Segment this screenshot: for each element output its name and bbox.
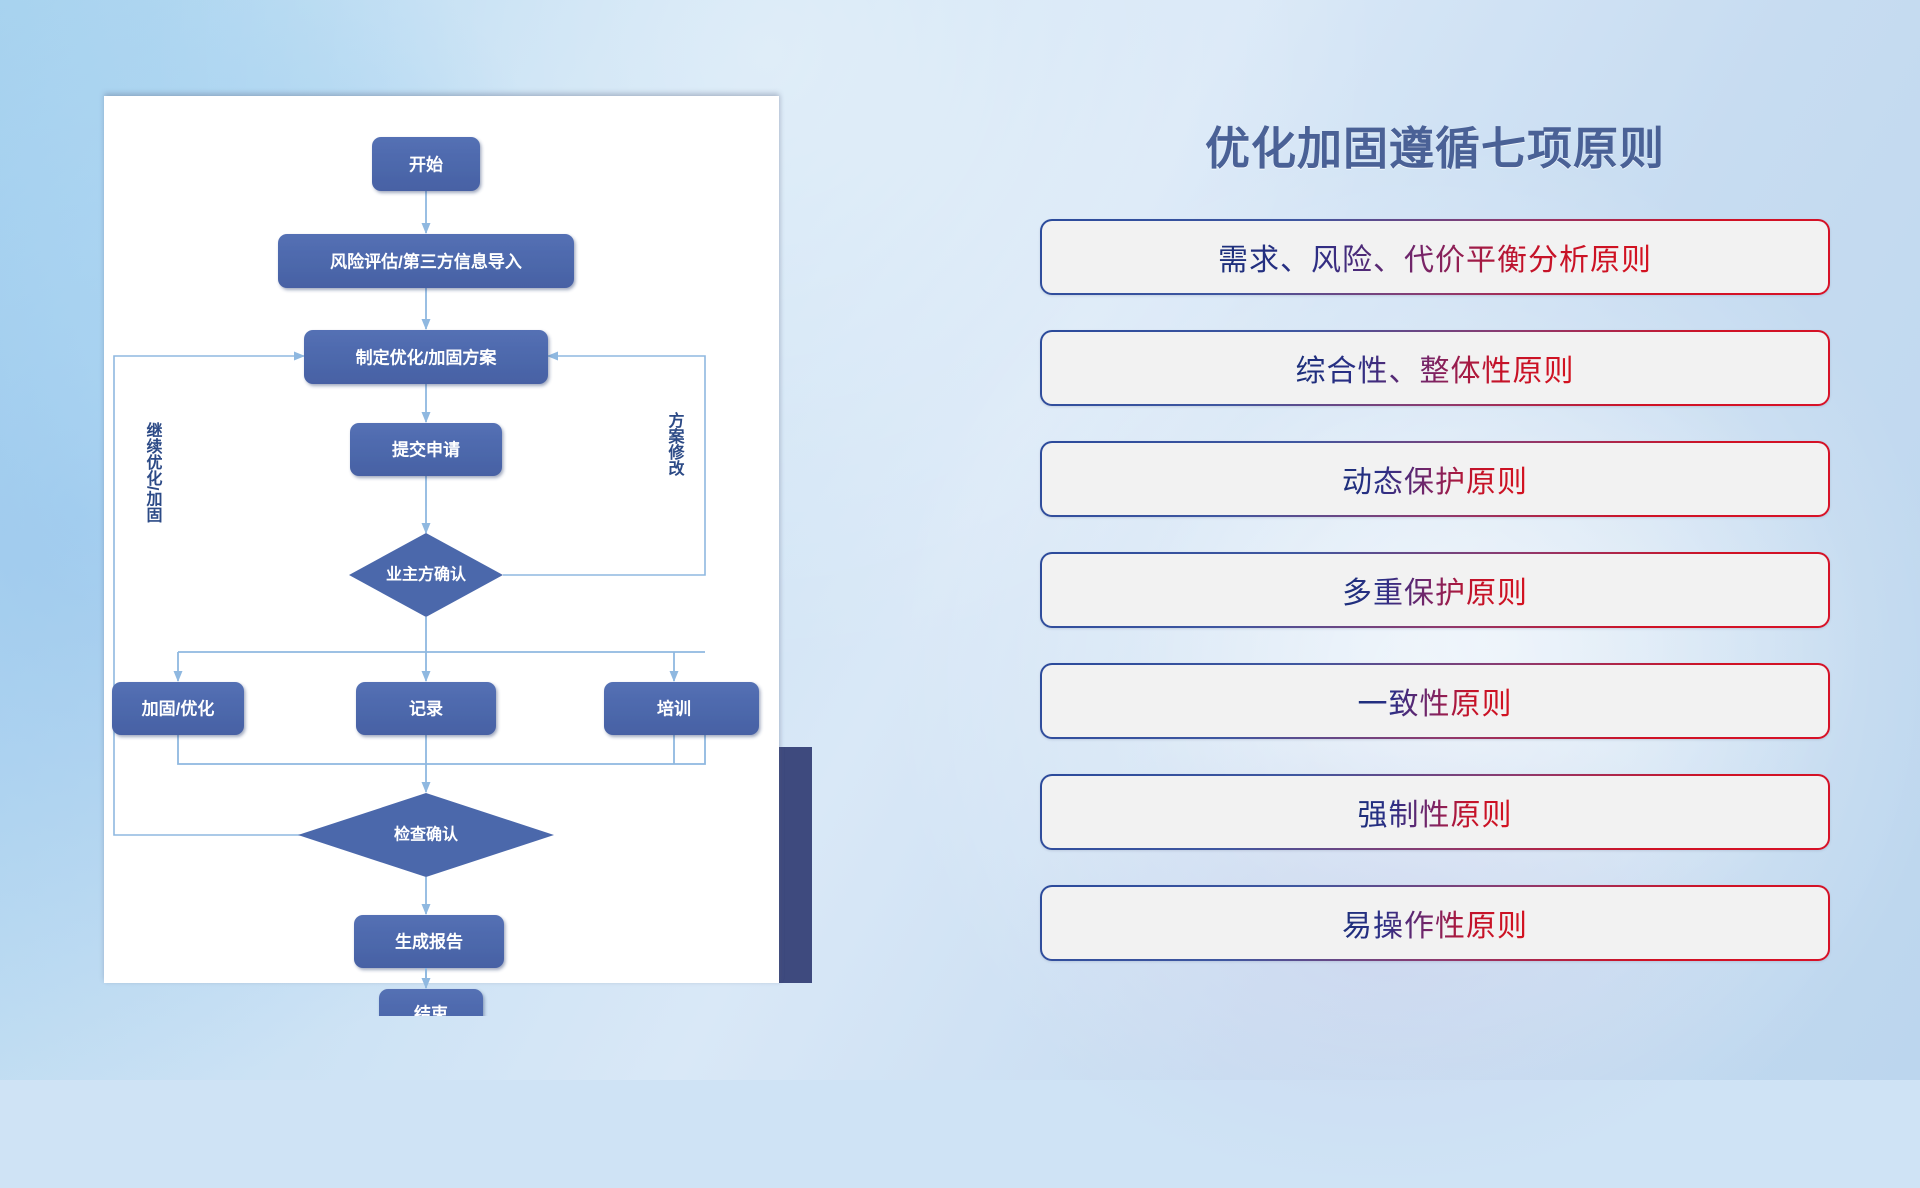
- flow-node-start-label: 开始: [409, 155, 443, 175]
- flow-edge-label-right: 方案修改: [666, 411, 686, 477]
- flow-node-owner-confirm-label: 业主方确认: [386, 565, 467, 584]
- flow-node-report[interactable]: 生成报告: [354, 915, 504, 968]
- flow-node-training[interactable]: 培训: [604, 682, 759, 735]
- principle-label: 易操作性原则: [1342, 901, 1528, 945]
- principle-label: 动态保护原则: [1342, 457, 1528, 501]
- flow-node-submit-label: 提交申请: [392, 440, 460, 460]
- flow-node-submit[interactable]: 提交申请: [350, 423, 502, 476]
- principle-card[interactable]: 综合性、整体性原则: [1040, 330, 1830, 406]
- flow-node-risk-label: 风险评估/第三方信息导入: [330, 252, 522, 272]
- principle-card[interactable]: 多重保护原则: [1040, 552, 1830, 628]
- flow-node-record-label: 记录: [409, 700, 443, 719]
- principle-card[interactable]: 一致性原则: [1040, 663, 1830, 739]
- flowchart-panel: 开始 风险评估/第三方信息导入 制定优化/加固方案 提交申请 业主方确认 加固/…: [104, 96, 779, 983]
- flow-node-plan-label: 制定优化/加固方案: [356, 348, 498, 368]
- principle-card[interactable]: 动态保护原则: [1040, 441, 1830, 517]
- principles-list: 需求、风险、代价平衡分析原则 综合性、整体性原则 动态保护原则 多重保护原则 一…: [1020, 219, 1850, 961]
- flow-node-risk[interactable]: 风险评估/第三方信息导入: [278, 234, 574, 288]
- flow-node-reinforce[interactable]: 加固/优化: [112, 682, 244, 735]
- page-title: 优化加固遵循七项原则: [1020, 112, 1850, 177]
- principles-panel: 优化加固遵循七项原则 需求、风险、代价平衡分析原则 综合性、整体性原则 动态保护…: [1020, 90, 1850, 1010]
- principle-label: 需求、风险、代价平衡分析原则: [1218, 235, 1652, 279]
- flow-edge-label-left: 继续优化/加固: [144, 421, 164, 523]
- principle-label: 综合性、整体性原则: [1296, 346, 1575, 390]
- flowchart-diagram: 开始 风险评估/第三方信息导入 制定优化/加固方案 提交申请 业主方确认 加固/…: [104, 96, 779, 983]
- principle-label: 多重保护原则: [1342, 568, 1528, 612]
- flow-node-report-label: 生成报告: [395, 932, 463, 952]
- flow-node-reinforce-label: 加固/优化: [141, 699, 215, 719]
- principle-card[interactable]: 强制性原则: [1040, 774, 1830, 850]
- principle-card[interactable]: 易操作性原则: [1040, 885, 1830, 961]
- flow-node-check-label: 检查确认: [394, 825, 459, 844]
- flow-node-owner-confirm[interactable]: 业主方确认: [349, 533, 503, 617]
- flow-node-start[interactable]: 开始: [372, 137, 480, 191]
- principle-card[interactable]: 需求、风险、代价平衡分析原则: [1040, 219, 1830, 295]
- flow-node-training-label: 培训: [657, 699, 691, 719]
- principle-label: 强制性原则: [1358, 790, 1513, 834]
- principle-label: 一致性原则: [1358, 679, 1513, 723]
- flow-node-check[interactable]: 检查确认: [298, 793, 554, 877]
- flow-node-record[interactable]: 记录: [356, 682, 496, 735]
- flow-node-plan[interactable]: 制定优化/加固方案: [304, 330, 548, 384]
